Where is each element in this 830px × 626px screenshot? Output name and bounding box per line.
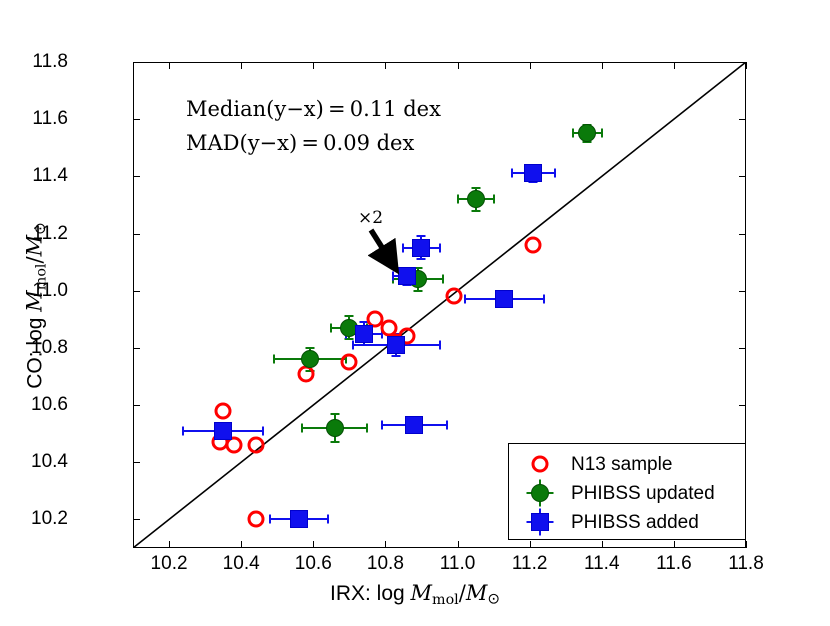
mad-annotation: MAD(y−x) = 0.09 dex	[186, 126, 441, 160]
x-tick-top	[169, 62, 170, 69]
legend-item-phibss-updated[interactable]: PHIBSS updated	[509, 479, 745, 508]
x-tick-top	[313, 62, 314, 69]
x-tick-top	[385, 62, 386, 69]
y-tick-right	[739, 348, 746, 349]
legend-item-phibss-added[interactable]: PHIBSS added	[509, 508, 745, 537]
x-tick-label: 11.8	[728, 553, 764, 575]
x-tick-label: 11.0	[440, 553, 476, 575]
x-axis-mass-subscript: mol	[432, 592, 459, 608]
x-tick-top	[458, 62, 459, 69]
x-axis-label-prefix: IRX: log	[330, 582, 411, 605]
y-tick-right	[739, 405, 746, 406]
y-tick-right	[739, 176, 746, 177]
y-tick	[133, 176, 140, 177]
y-tick	[133, 462, 140, 463]
y-tick	[133, 405, 140, 406]
y-tick-right	[739, 62, 746, 63]
x-tick-label: 11.6	[656, 553, 692, 575]
x-tick	[241, 541, 242, 548]
y-tick	[133, 234, 140, 235]
figure-scatter-co-vs-irx: 10.210.410.610.811.011.211.411.611.810.2…	[0, 0, 830, 626]
x-tick-label: 10.2	[151, 553, 188, 575]
x-tick	[746, 541, 747, 548]
x-axis-label: IRX: log Mmol/M⊙	[0, 581, 830, 608]
legend-item-n13-sample[interactable]: N13 sample	[509, 450, 745, 479]
statistics-annotation: Median(y−x) = 0.11 dex MAD(y−x) = 0.09 d…	[186, 92, 441, 160]
legend-label: N13 sample	[571, 454, 672, 476]
legend-label: PHIBSS updated	[571, 483, 715, 505]
x-tick	[313, 541, 314, 548]
x-tick	[530, 541, 531, 548]
legend: N13 samplePHIBSS updatedPHIBSS added	[508, 443, 746, 540]
y-tick-right	[739, 119, 746, 120]
y-tick	[133, 348, 140, 349]
y-axis-denominator: M	[23, 235, 47, 257]
legend-marker-icon	[509, 450, 571, 479]
legend-marker-icon	[509, 479, 571, 508]
legend-marker-icon	[509, 508, 571, 537]
y-axis-slash: /	[23, 256, 47, 263]
x-tick-label: 11.4	[584, 553, 620, 575]
legend-marker	[531, 513, 549, 531]
y-axis-mass-subscript: mol	[33, 264, 49, 291]
x-tick	[674, 541, 675, 548]
x-tick-label: 10.6	[295, 553, 332, 575]
x-tick	[169, 541, 170, 548]
legend-label: PHIBSS added	[571, 512, 699, 534]
median-annotation: Median(y−x) = 0.11 dex	[186, 92, 441, 126]
y-tick	[133, 62, 140, 63]
x-axis-denominator: M	[466, 581, 488, 605]
y-axis-sun-symbol: ⊙	[31, 222, 49, 235]
y-axis-label-prefix: CO: log	[24, 312, 47, 389]
x-tick-label: 11.2	[512, 553, 548, 575]
y-axis-mass-symbol: M	[23, 290, 47, 312]
x-tick	[385, 541, 386, 548]
x-tick-top	[241, 62, 242, 69]
x-tick-top	[674, 62, 675, 69]
legend-marker	[531, 484, 549, 502]
x-tick-top	[602, 62, 603, 69]
y-axis-label: CO: log Mmol/M⊙	[23, 55, 50, 555]
y-tick-right	[739, 234, 746, 235]
x-tick	[602, 541, 603, 548]
x-tick-top	[746, 62, 747, 69]
x-axis-sun-symbol: ⊙	[487, 589, 500, 607]
x2-annotation-label: ×2	[358, 208, 383, 228]
y-tick	[133, 519, 140, 520]
x-axis-mass-symbol: M	[411, 581, 433, 605]
y-tick	[133, 119, 140, 120]
x-tick	[458, 541, 459, 548]
legend-marker	[532, 456, 549, 473]
x-tick-label: 10.4	[223, 553, 260, 575]
y-tick	[133, 291, 140, 292]
x-tick-label: 10.8	[367, 553, 404, 575]
y-tick-right	[739, 291, 746, 292]
x-tick-top	[530, 62, 531, 69]
x-axis-slash: /	[459, 581, 466, 605]
